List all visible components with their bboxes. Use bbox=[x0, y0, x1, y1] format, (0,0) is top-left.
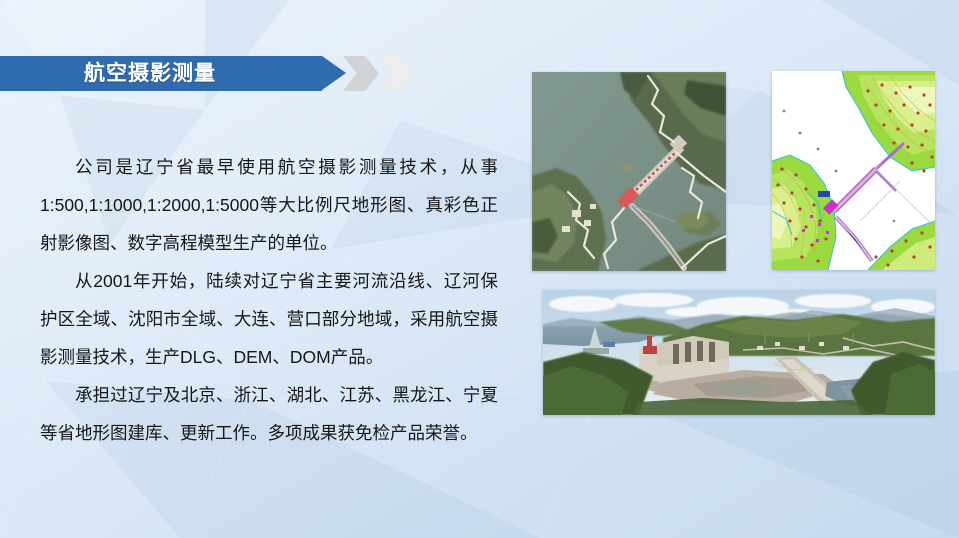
page-title: 航空摄影测量 bbox=[84, 56, 216, 91]
body-text-block: 公司是辽宁省最早使用航空摄影测量技术，从事1:500,1:1000,1:2000… bbox=[40, 148, 498, 452]
section-title-banner: 航空摄影测量 bbox=[0, 56, 405, 91]
banner-chevron-gray bbox=[343, 56, 379, 91]
image-dlg-topographic-map bbox=[772, 71, 935, 270]
aerial-photo-graphic bbox=[543, 290, 935, 415]
banner-chevron-light bbox=[379, 56, 415, 91]
paragraph-2: 从2001年开始，陆续对辽宁省主要河流沿线、辽河保护区全域、沈阳市全域、大连、营… bbox=[40, 262, 498, 376]
banner-arrow-blue bbox=[322, 56, 346, 90]
slide-canvas: 航空摄影测量 公司是辽宁省最早使用航空摄影测量技术，从事1:500,1:1000… bbox=[0, 0, 959, 538]
image-aerial-dam-photo bbox=[543, 290, 935, 415]
paragraph-1: 公司是辽宁省最早使用航空摄影测量技术，从事1:500,1:1000,1:2000… bbox=[40, 148, 498, 262]
dlg-map-graphic bbox=[772, 71, 935, 270]
orthophoto-graphic bbox=[532, 72, 726, 271]
image-orthophoto-reservoir bbox=[532, 72, 726, 271]
paragraph-3: 承担过辽宁及北京、浙江、湖北、江苏、黑龙江、宁夏等省地形图建库、更新工作。多项成… bbox=[40, 376, 498, 452]
